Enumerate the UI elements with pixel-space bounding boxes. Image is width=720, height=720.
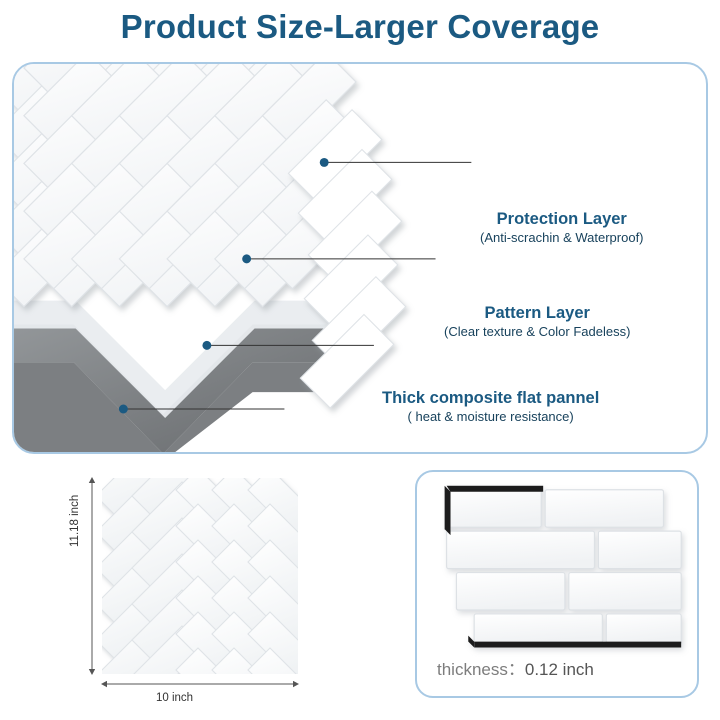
thickness-label: thickness：: [437, 660, 525, 679]
callout-subtitle: ( heat & moisture resistance): [382, 408, 599, 425]
callout-protection-layer: Protection Layer (Anti-scrachin & Waterp…: [480, 210, 644, 246]
thickness-caption: thickness：0.12 inch: [437, 655, 594, 680]
callout-subtitle: (Clear texture & Color Fadeless): [444, 323, 630, 340]
sheet-size-diagram: 11.18 inch 10 inch: [66, 470, 326, 710]
callout-subtitle: (Anti-scrachin & Waterproof): [480, 229, 644, 246]
dimension-arrows: [66, 470, 326, 710]
sheet-width-label: 10 inch: [156, 692, 193, 704]
callout-title: Pattern Layer: [444, 304, 630, 323]
callout-title: Protection Layer: [480, 210, 644, 229]
thickness-value: 0.12 inch: [525, 660, 594, 679]
thickness-panel: thickness：0.12 inch: [415, 470, 699, 698]
callout-composite-panel: Thick composite flat pannel ( heat & moi…: [382, 389, 599, 425]
page-title: Product Size-Larger Coverage: [0, 8, 720, 46]
herringbone-layers-illustration: [14, 64, 706, 454]
sheet-height-label: 11.18 inch: [69, 525, 81, 547]
callout-title: Thick composite flat pannel: [382, 389, 599, 408]
callout-pattern-layer: Pattern Layer (Clear texture & Color Fad…: [444, 304, 630, 340]
product-layers-panel: Protection Layer (Anti-scrachin & Waterp…: [12, 62, 708, 454]
